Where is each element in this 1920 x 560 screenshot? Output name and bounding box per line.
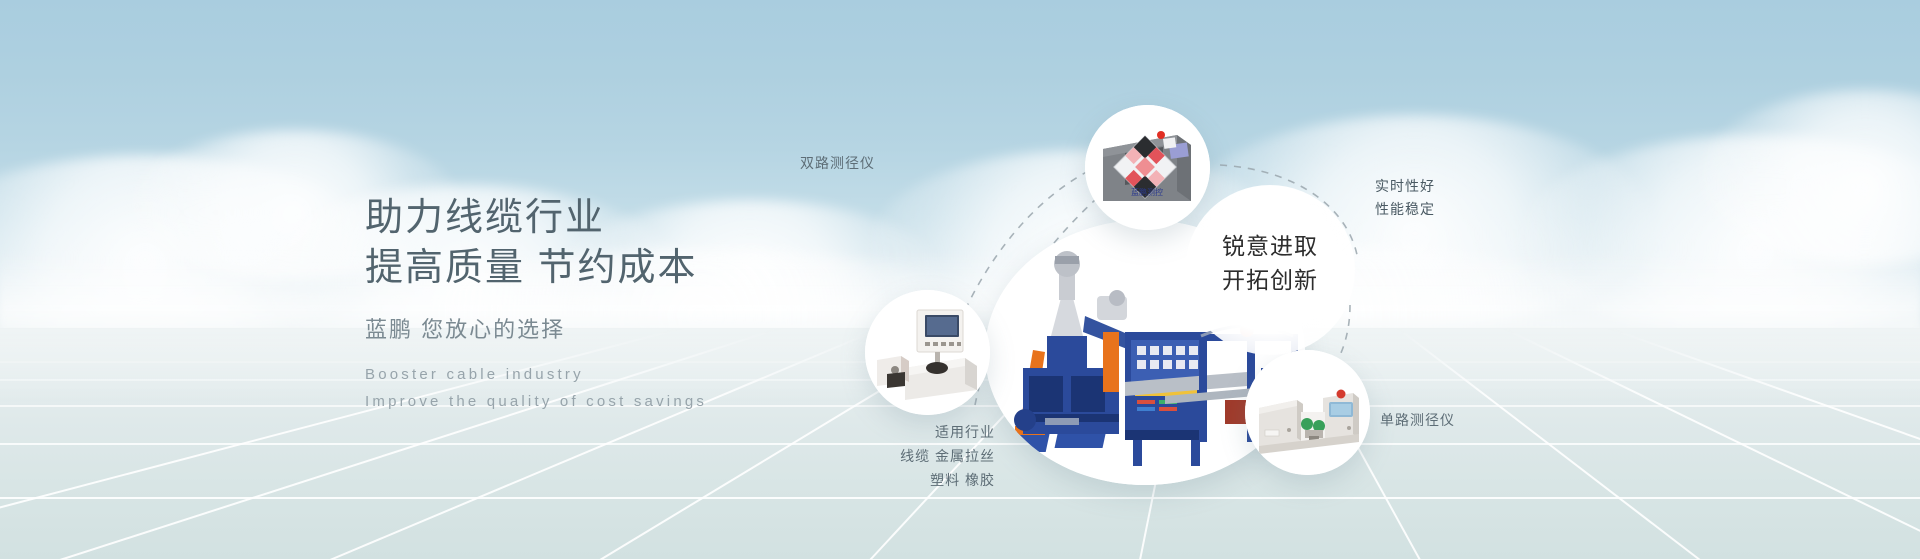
label-feature-line-2: 性能稳定 bbox=[1375, 198, 1435, 221]
headline-line-2: 提高质量 节约成本 bbox=[365, 243, 707, 293]
product-cluster: 蓝鹏测控 bbox=[880, 75, 1920, 525]
label-industry: 适用行业 线缆 金属拉丝 塑料 橡胶 bbox=[835, 420, 995, 492]
bubble-single-gauge[interactable] bbox=[1245, 350, 1370, 475]
dual-path-diameter-gauge-illustration: 蓝鹏测控 bbox=[1085, 105, 1210, 230]
slogan-line-2: 开拓创新 bbox=[1185, 263, 1355, 297]
subtitle-english-line-2: Improve the quality of cost savings bbox=[365, 388, 707, 415]
slogan-text-block: 锐意进取 开拓创新 bbox=[1185, 229, 1355, 297]
label-single-gauge: 单路测径仪 bbox=[1380, 410, 1455, 431]
headline-line-1: 助力线缆行业 bbox=[365, 193, 707, 243]
label-feature-line-1: 实时性好 bbox=[1375, 175, 1435, 198]
subtitle-chinese: 蓝鹏 您放心的选择 bbox=[365, 315, 707, 345]
label-industry-line-2: 塑料 橡胶 bbox=[835, 468, 995, 492]
device-brand-text: 蓝鹏测控 bbox=[1131, 187, 1163, 197]
label-dual-gauge: 双路测径仪 bbox=[800, 153, 875, 174]
bubble-dual-gauge[interactable]: 蓝鹏测控 bbox=[1085, 105, 1210, 230]
bubble-measuring-console[interactable] bbox=[865, 290, 990, 415]
label-industry-line-1: 线缆 金属拉丝 bbox=[835, 444, 995, 468]
subtitle-english-line-1: Booster cable industry bbox=[365, 361, 707, 388]
slogan-line-1: 锐意进取 bbox=[1185, 229, 1355, 263]
label-features: 实时性好 性能稳定 bbox=[1375, 175, 1435, 221]
hero-copy: 助力线缆行业 提高质量 节约成本 蓝鹏 您放心的选择 Booster cable… bbox=[365, 193, 707, 415]
single-path-diameter-gauge-illustration bbox=[1245, 350, 1370, 475]
hero-banner: 助力线缆行业 提高质量 节约成本 蓝鹏 您放心的选择 Booster cable… bbox=[0, 0, 1920, 560]
measuring-console-illustration bbox=[865, 290, 990, 415]
bubble-slogan: 锐意进取 开拓创新 bbox=[1185, 185, 1355, 355]
label-industry-title: 适用行业 bbox=[835, 420, 995, 444]
